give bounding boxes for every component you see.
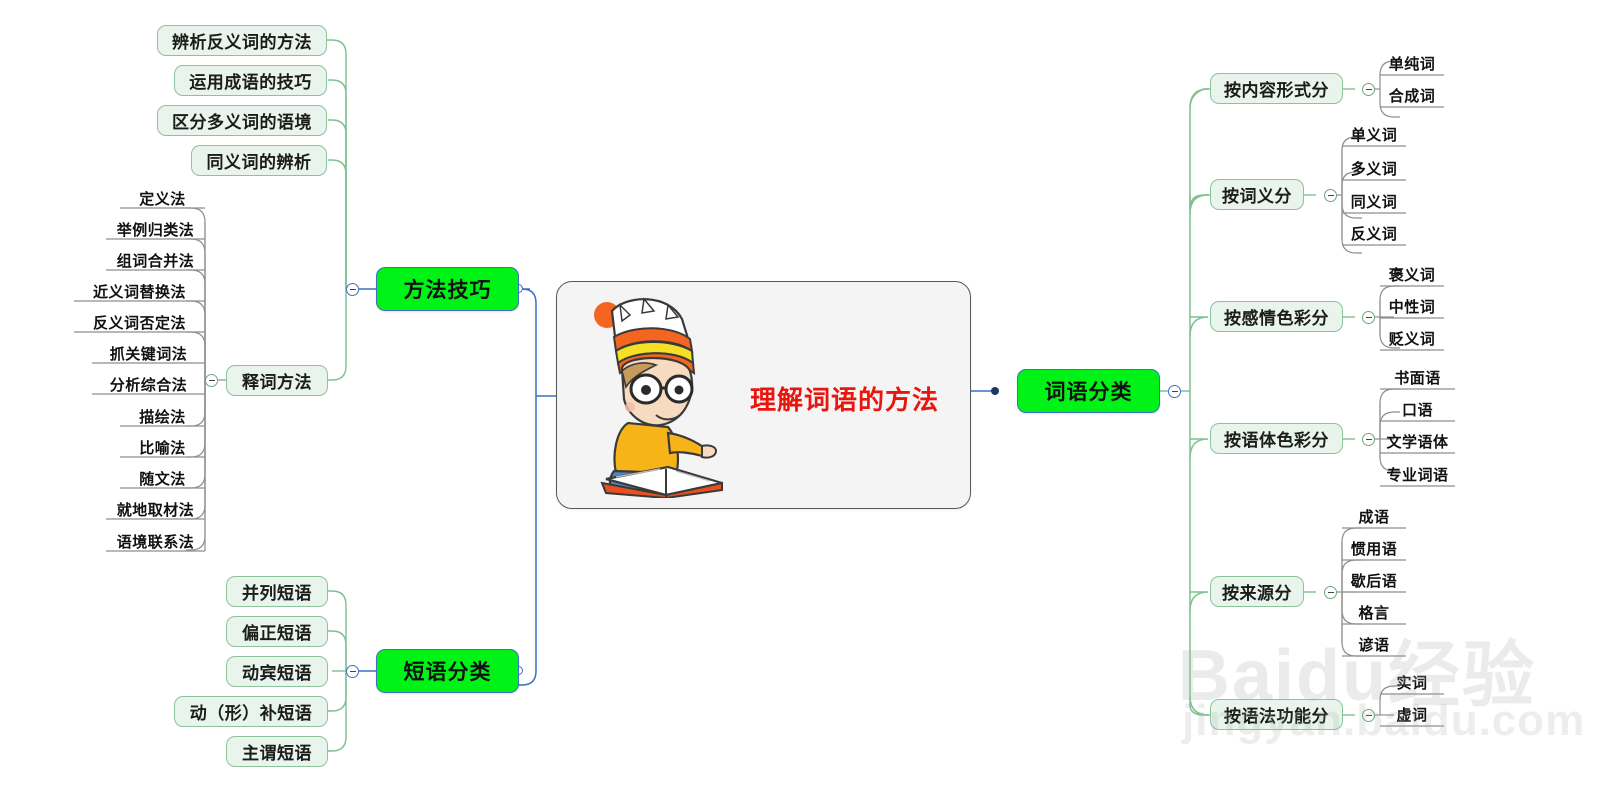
node-bianxi-fanyici[interactable]: 辨析反义词的方法 [157, 25, 327, 56]
toggle-duanyufenlei[interactable] [346, 665, 359, 678]
node-tongyici-bianxi[interactable]: 同义词的辨析 [191, 145, 327, 176]
branch-ciyufenlei[interactable]: 词语分类 [1017, 369, 1160, 413]
node-zhuweiduanyu[interactable]: 主谓短语 [226, 736, 328, 767]
node-zhuweiduanyu-label: 主谓短语 [242, 739, 312, 764]
node-bianxi-fanyici-label: 辨析反义词的方法 [172, 28, 312, 53]
leaf-zhongxingci[interactable]: 中性词 [1380, 296, 1444, 317]
toggle-anyutisecaifen[interactable] [1362, 433, 1375, 446]
leaf-yanyu[interactable]: 谚语 [1342, 634, 1406, 655]
toggle-anneirongxingshifen[interactable] [1362, 83, 1375, 96]
leaf-duoyici[interactable]: 多义词 [1342, 158, 1406, 179]
leaf-jinyicitihuanfa[interactable]: 近义词替换法 [74, 281, 205, 302]
node-anlaiyuanfen-label: 按来源分 [1222, 579, 1292, 604]
toggle-anganqingsecaifen[interactable] [1362, 311, 1375, 324]
node-anganqingsecaifen[interactable]: 按感情色彩分 [1210, 301, 1343, 332]
leaf-tongyici[interactable]: 同义词 [1342, 191, 1406, 212]
leaf-chengyu[interactable]: 成语 [1342, 506, 1406, 527]
node-anyutisecaifen-label: 按语体色彩分 [1224, 426, 1329, 451]
connector-dot-ciyufenlei [991, 387, 999, 395]
root-title: 理解词语的方法 [750, 380, 939, 417]
node-dongbinduanyu-label: 动宾短语 [242, 659, 312, 684]
leaf-danchunci[interactable]: 单纯词 [1380, 53, 1444, 74]
leaf-guanyongyu[interactable]: 惯用语 [1342, 538, 1406, 559]
node-shicifangfa-label: 释词方法 [242, 368, 312, 393]
leaf-jiudiqucaifa[interactable]: 就地取材法 [106, 499, 205, 520]
leaf-xuci[interactable]: 虚词 [1380, 704, 1444, 725]
leaf-miaohuifa[interactable]: 描绘法 [120, 406, 205, 427]
leaf-dingyifa[interactable]: 定义法 [120, 188, 205, 209]
toggle-fangfajiqiao[interactable] [346, 283, 359, 296]
branch-ciyufenlei-label: 词语分类 [1045, 376, 1133, 406]
leaf-wenxueyuti[interactable]: 文学语体 [1380, 431, 1455, 452]
leaf-zhuanyeciyu[interactable]: 专业词语 [1380, 464, 1455, 485]
node-anganqingsecaifen-label: 按感情色彩分 [1224, 304, 1329, 329]
leaf-shici[interactable]: 实词 [1380, 672, 1444, 693]
node-qufen-duoyici[interactable]: 区分多义词的语境 [157, 105, 327, 136]
node-tongyici-bianxi-label: 同义词的辨析 [207, 148, 312, 173]
toggle-anciyifen[interactable] [1324, 189, 1337, 202]
leaf-juliguileifa[interactable]: 举例归类法 [106, 219, 205, 240]
leaf-zucihebingfa[interactable]: 组词合并法 [106, 250, 205, 271]
leaf-fanyici[interactable]: 反义词 [1342, 223, 1406, 244]
leaf-biyufa[interactable]: 比喻法 [120, 437, 205, 458]
leaf-bianyici[interactable]: 贬义词 [1380, 328, 1444, 349]
leaf-fenxizonghefa[interactable]: 分析综合法 [92, 374, 205, 395]
leaf-zhuaguanjiancifa[interactable]: 抓关键词法 [92, 343, 205, 364]
node-yunyong-chengyu-label: 运用成语的技巧 [189, 68, 312, 93]
node-anneirongxingshifen[interactable]: 按内容形式分 [1210, 73, 1343, 104]
node-pianzhengduanyu[interactable]: 偏正短语 [226, 616, 328, 647]
toggle-anyufagongnengfen[interactable] [1362, 709, 1375, 722]
leaf-suiwenfa[interactable]: 随文法 [120, 468, 205, 489]
node-anyufagongnengfen-label: 按语法功能分 [1224, 702, 1329, 727]
leaf-baoyici[interactable]: 褒义词 [1380, 264, 1444, 285]
node-dongxingbuduanyu-label: 动（形）补短语 [190, 699, 313, 724]
leaf-fanyicifoudingfa[interactable]: 反义词否定法 [74, 312, 205, 333]
node-dongbinduanyu[interactable]: 动宾短语 [226, 656, 328, 687]
mindmap-canvas: 理解词语的方法 方法技巧 短语分类 辨析反义词的方法 运用成语的技巧 区分多义词… [0, 0, 1602, 791]
leaf-kouyu[interactable]: 口语 [1380, 399, 1455, 420]
node-anyufagongnengfen[interactable]: 按语法功能分 [1210, 699, 1343, 730]
node-binglieduanyu-label: 并列短语 [242, 579, 312, 604]
node-anyutisecaifen[interactable]: 按语体色彩分 [1210, 423, 1343, 454]
leaf-xiehouyu[interactable]: 歇后语 [1342, 570, 1406, 591]
leaf-hechengci[interactable]: 合成词 [1380, 85, 1444, 106]
branch-fangfajiqiao[interactable]: 方法技巧 [376, 267, 519, 311]
node-anciyifen[interactable]: 按词义分 [1210, 179, 1304, 210]
leaf-shumianyu[interactable]: 书面语 [1380, 367, 1455, 388]
branch-duanyufenlei[interactable]: 短语分类 [376, 649, 519, 693]
node-shicifangfa[interactable]: 释词方法 [226, 365, 328, 396]
leaf-geyan[interactable]: 格言 [1342, 602, 1406, 623]
node-qufen-duoyici-label: 区分多义词的语境 [172, 108, 312, 133]
node-pianzhengduanyu-label: 偏正短语 [242, 619, 312, 644]
node-anciyifen-label: 按词义分 [1222, 182, 1292, 207]
node-yunyong-chengyu[interactable]: 运用成语的技巧 [174, 65, 327, 96]
toggle-shicifangfa[interactable] [205, 374, 218, 387]
leaf-danyici[interactable]: 单义词 [1342, 124, 1406, 145]
node-anlaiyuanfen[interactable]: 按来源分 [1210, 576, 1304, 607]
branch-fangfajiqiao-label: 方法技巧 [404, 274, 492, 304]
leaf-yujinglianxifa[interactable]: 语境联系法 [106, 531, 205, 552]
branch-duanyufenlei-label: 短语分类 [404, 656, 492, 686]
toggle-anlaiyuanfen[interactable] [1324, 586, 1337, 599]
boy-reading-book-illustration [572, 283, 757, 498]
toggle-ciyufenlei[interactable] [1168, 385, 1181, 398]
node-anneirongxingshifen-label: 按内容形式分 [1224, 76, 1329, 101]
node-binglieduanyu[interactable]: 并列短语 [226, 576, 328, 607]
node-dongxingbuduanyu[interactable]: 动（形）补短语 [174, 696, 328, 727]
